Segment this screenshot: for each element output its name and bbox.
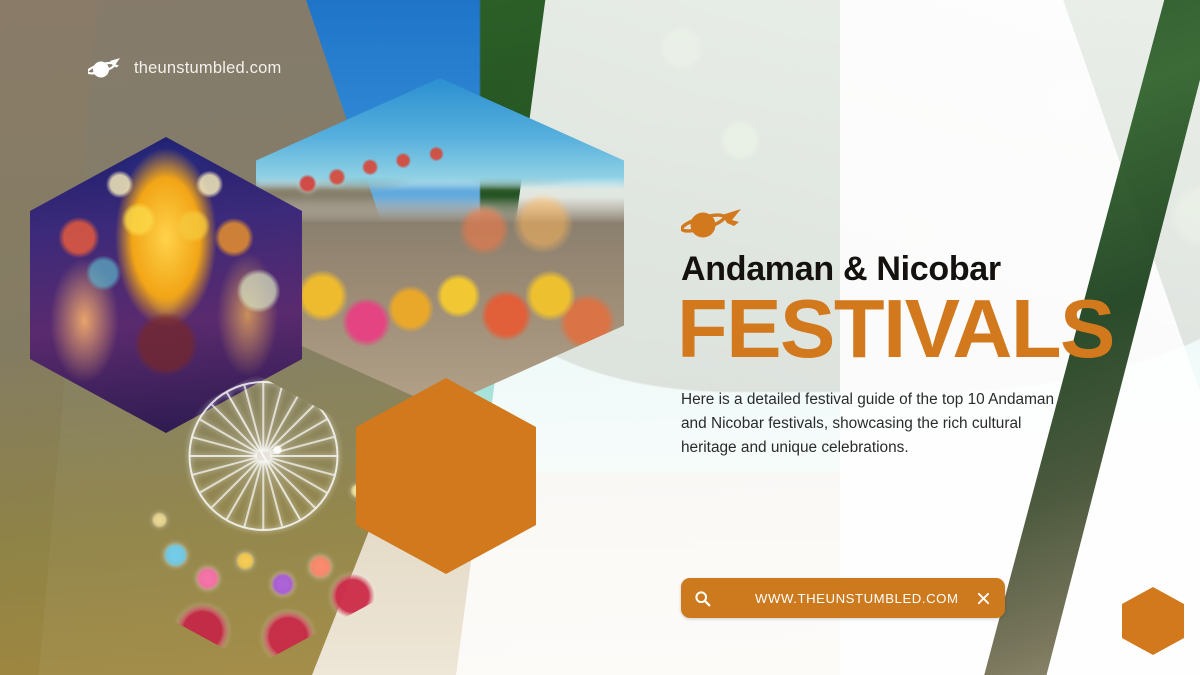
hero-content-panel: Andaman & Nicobar FESTIVALS Here is a de… — [681, 206, 1193, 461]
planet-plane-icon — [88, 56, 122, 80]
brand-name: theunstumbled.com — [134, 59, 281, 78]
hero-planet-plane-icon — [681, 206, 1193, 240]
url-text[interactable]: WWW.THEUNSTUMBLED.COM — [723, 591, 964, 606]
page-headline: FESTIVALS — [677, 290, 1193, 368]
search-icon[interactable] — [694, 590, 711, 607]
website-url-bar[interactable]: WWW.THEUNSTUMBLED.COM — [681, 578, 1005, 618]
poster-canvas: theunstumbled.com — [0, 0, 1200, 675]
brand-lockup[interactable]: theunstumbled.com — [88, 56, 281, 80]
close-icon[interactable] — [976, 591, 991, 606]
page-description: Here is a detailed festival guide of the… — [681, 388, 1081, 461]
